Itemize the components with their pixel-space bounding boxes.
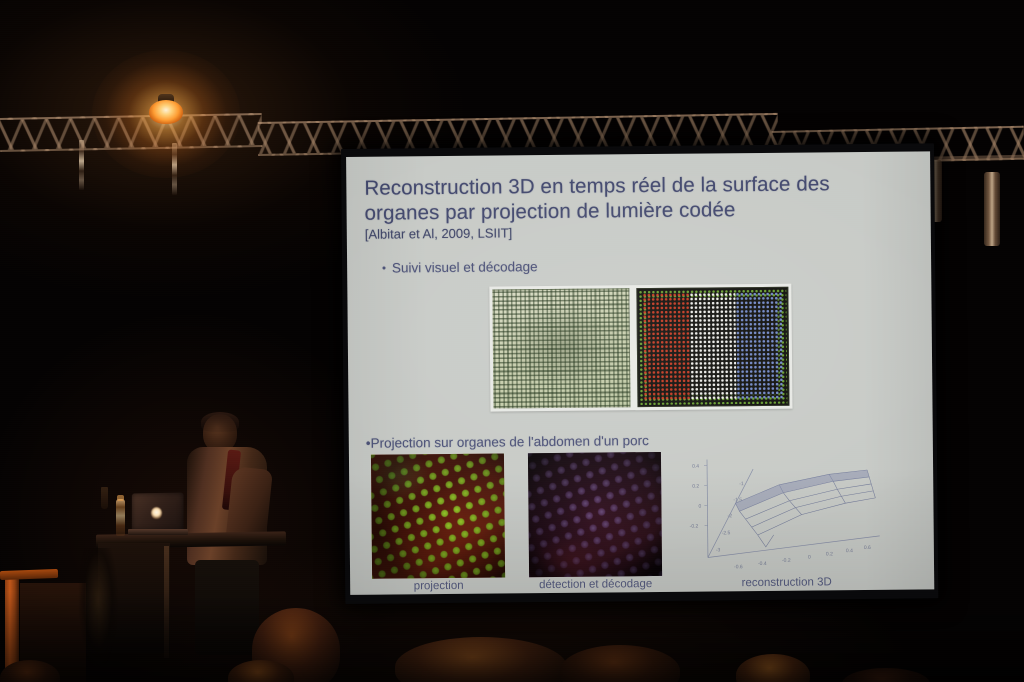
slide-title-line-2: organes par projection de lumière codée: [364, 196, 908, 226]
plot-z-axis: [707, 460, 708, 558]
audience-head-2: [395, 637, 567, 682]
figure-reconstruction: 0.4 0.2 0 -0.2 -0.6 -0.4 -0.2: [683, 450, 889, 576]
svg-text:-0.2: -0.2: [782, 558, 791, 564]
audience-head-3: [560, 645, 680, 682]
slide-bullet-2-text: Projection sur organes de l'abdomen d'un…: [370, 433, 648, 451]
stage-lamp-bulb: [149, 100, 183, 124]
figure-detection: détection et décodage: [528, 452, 662, 577]
grid-band-red: [642, 293, 690, 401]
caption-projection: projection: [372, 579, 505, 592]
apple-logo-icon: [151, 507, 162, 519]
color-coded-grid-decoded: [636, 287, 789, 407]
svg-text:0.2: 0.2: [692, 484, 699, 490]
truss-hanging-cable-left: [79, 140, 84, 190]
structured-light-grid-capture: [492, 288, 630, 408]
reconstruction-3d-svg: 0.4 0.2 0 -0.2 -0.6 -0.4 -0.2: [683, 450, 889, 576]
svg-text:-0.4: -0.4: [758, 561, 767, 567]
slide-bullet-1: •Suivi visuel et décodage: [382, 255, 909, 278]
grid-band-blue: [736, 292, 784, 400]
svg-text:-1: -1: [739, 481, 744, 487]
audience-head-7: [842, 668, 930, 682]
figure-group-bottom: projection détection et décodage: [371, 449, 922, 594]
svg-text:0: 0: [808, 555, 811, 561]
water-bottle: [116, 499, 125, 536]
svg-text:-2.5: -2.5: [722, 530, 731, 536]
projection-photo: [371, 453, 505, 578]
projection-screen-surface: Reconstruction 3D en temps réel de la su…: [346, 151, 934, 595]
projection-screen: Reconstruction 3D en temps réel de la su…: [341, 143, 938, 604]
bullet-marker-icon: •: [382, 262, 386, 274]
laptop-base: [128, 529, 188, 535]
slide-bullet-1-text: Suivi visuel et décodage: [392, 259, 538, 275]
slide-bullet-2: •Projection sur organes de l'abdomen d'u…: [366, 433, 649, 451]
drinking-glass: [101, 487, 108, 509]
svg-text:-0.6: -0.6: [734, 564, 743, 570]
svg-text:0: 0: [698, 504, 701, 510]
presenter-table-leg: [164, 546, 169, 658]
conference-hall-photo: Reconstruction 3D en temps réel de la su…: [0, 0, 1024, 682]
stage-light-fixture-2: [984, 172, 1000, 246]
slide-content: Reconstruction 3D en temps réel de la su…: [346, 151, 934, 595]
water-bottle-cap: [117, 495, 124, 501]
laptop: [128, 493, 186, 535]
stage-lamp: [138, 92, 194, 134]
foreground-foliage: [78, 548, 118, 664]
slide-title: Reconstruction 3D en temps réel de la su…: [364, 171, 908, 226]
plot-x-axis: [708, 536, 880, 558]
svg-text:-0.2: -0.2: [690, 524, 699, 530]
caption-detection: détection et décodage: [529, 578, 662, 591]
svg-text:-3: -3: [716, 547, 721, 553]
svg-text:0.6: 0.6: [864, 545, 871, 551]
grid-band-white: [689, 292, 737, 400]
figure-projection: projection: [371, 453, 505, 578]
caption-reconstruction: reconstruction 3D: [684, 576, 889, 590]
foreground-post-top: [0, 569, 58, 580]
presenter-legs: [195, 560, 259, 655]
svg-text:0.4: 0.4: [846, 548, 853, 554]
svg-text:0.2: 0.2: [826, 551, 833, 557]
svg-text:0.4: 0.4: [692, 464, 699, 470]
reconstruction-3d-plot: 0.4 0.2 0 -0.2 -0.6 -0.4 -0.2: [683, 450, 889, 576]
detection-photo-shading: [528, 452, 662, 577]
grid-color-bands: [642, 292, 783, 401]
slide-title-line-1: Reconstruction 3D en temps réel de la su…: [364, 171, 908, 201]
svg-text:-2: -2: [728, 513, 733, 519]
presenter-hair: [201, 412, 239, 432]
projection-photo-shading: [371, 453, 505, 578]
detection-decoding-photo: [528, 452, 662, 577]
figure-group-top: [489, 284, 792, 412]
audience-head-4: [736, 654, 810, 682]
plot-surface-fill: [735, 470, 869, 511]
